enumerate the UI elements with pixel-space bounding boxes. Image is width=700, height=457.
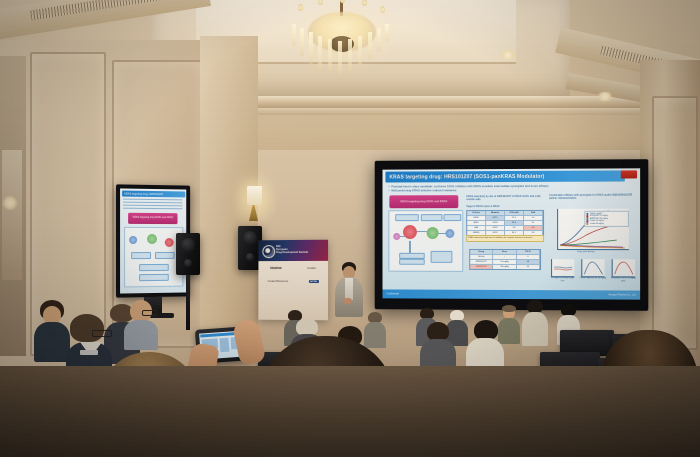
table-cell: A549 — [467, 221, 486, 225]
small-plot-2-curves — [582, 259, 604, 276]
table-cell: G12C — [486, 216, 505, 220]
slide-company-logo — [621, 170, 637, 178]
monitor-bullets — [123, 199, 182, 210]
tumor-growth-plot: Vehicle control HRS101207 10 mg/kg HRS10… — [557, 209, 629, 250]
pathway-diagram — [388, 210, 463, 272]
audience-member — [522, 300, 548, 344]
speaker-tweeter — [184, 259, 192, 267]
torso — [34, 322, 70, 362]
sponsor-row-2: Covalent Biosciences ACCEL — [258, 280, 328, 283]
mid-heading-1: KRAS selectivity by site of HRS101207 in… — [466, 195, 546, 202]
downlight-2 — [498, 50, 518, 60]
small-plot-3-caption: Sustained TGI for 30 mg/kg dose — [610, 277, 637, 282]
diagram-connector — [400, 236, 406, 237]
legend-item: Combo 30 mg/kg — [586, 223, 627, 225]
monitor-chip — [131, 252, 151, 259]
glasses-icon — [142, 310, 157, 316]
slide-bullet: Well performing KRAS selective reduced r… — [388, 188, 634, 193]
diagram-chip — [395, 214, 419, 221]
presenter-shirt — [345, 278, 353, 300]
table-cell: 12.4 — [505, 216, 524, 220]
far-room-glimpse — [2, 150, 22, 280]
monitor-node — [129, 236, 137, 244]
table-header-cell: Mutation — [486, 211, 505, 215]
small-plot-2-caption: Tumor reduction for 30 mg/kg — [579, 277, 606, 280]
diagram-chip — [399, 259, 425, 265]
hair — [502, 305, 516, 312]
small-plot-3-curves — [613, 259, 635, 276]
slide-footer-left: Confidential — [386, 292, 398, 295]
hair — [474, 320, 498, 340]
slide-footer: Confidential Hengrui Pharma Co., Ltd. — [383, 289, 641, 299]
plot-legend: Vehicle control HRS101207 10 mg/kg HRS10… — [584, 211, 629, 227]
table-cell: G12S — [486, 221, 505, 225]
table-cell: Vehicle — [470, 255, 493, 259]
table-cell: 3.1 — [524, 221, 543, 225]
lanyard-badge — [80, 350, 98, 355]
table-cell: H358 — [467, 216, 486, 220]
table-cell: 10 mg/kg — [493, 260, 516, 264]
table-cell: 30 mg/kg — [493, 265, 516, 269]
speaker-cone — [181, 238, 195, 252]
far-room-light — [2, 196, 18, 210]
speaker-tweeter — [246, 253, 254, 261]
small-plot-1 — [551, 259, 574, 277]
main-projection-screen[interactable]: KRAS targeting drug: HRS101207 (SOS1-pan… — [375, 159, 649, 311]
right-heading: Combination efficacy with synergistic fo… — [549, 194, 634, 201]
table-header-cell: Fold — [524, 211, 543, 215]
mid-table-1: Cell line Mutation IC50 (nM) Fold H358 G… — [466, 210, 544, 236]
event-sponsor-banner: BIO European Drug Development Summit bio… — [258, 240, 328, 321]
presenter-hand — [343, 298, 352, 304]
table-header-cell: TGI % — [517, 250, 540, 254]
diagram-chip — [431, 251, 453, 263]
legend-swatch — [586, 223, 588, 225]
mid-table-2: Group Dose TGI % Vehicle - 0 HRS101207 1… — [469, 249, 541, 270]
table-header-cell: Dose — [493, 250, 516, 254]
event-logo-icon — [262, 245, 275, 258]
diagram-chip — [443, 214, 461, 221]
sponsor-logo: ACCEL — [309, 280, 319, 283]
slide-bullets: Potential best-in-class candidate: combi… — [388, 183, 634, 192]
crystal-chandelier — [278, 0, 406, 90]
plot-xlabel: Days post dosing — [577, 251, 594, 253]
chandelier-glow — [284, 0, 402, 74]
sponsor-logo: Nuvation — [307, 266, 316, 269]
monitor-chip — [139, 274, 169, 281]
diagram-connector — [409, 241, 411, 253]
diagram-node-sos1 — [427, 227, 439, 239]
monitor-pathway-diagram — [124, 227, 183, 288]
sconce-shade — [247, 186, 262, 205]
table-cell: 0.8 — [524, 226, 543, 230]
monitor-chip — [139, 264, 169, 271]
conference-photo: KRAS targeting drug: HRS101207 (SOS1-pan… — [0, 0, 700, 457]
monitor-pink-callout: KRAS targeting drug SOS1 and KRAS — [128, 213, 177, 224]
phone-slide-content — [220, 338, 230, 353]
banner-header: BIO European Drug Development Summit — [258, 240, 328, 261]
banner-event-title: BIO European Drug Development Summit — [276, 245, 324, 255]
slide-footer-right: Hengrui Pharma Co., Ltd. — [609, 293, 637, 296]
monitor-chip — [155, 252, 175, 259]
torso — [124, 320, 158, 350]
pa-speaker-left-pole — [186, 275, 190, 330]
hair — [70, 314, 104, 342]
wall-panel-right — [652, 96, 698, 350]
table-cell: MIA — [467, 226, 486, 230]
monitor-node — [147, 234, 157, 244]
small-plot-3 — [612, 259, 635, 277]
table-cell: 9.8 — [505, 226, 524, 230]
torso — [522, 312, 548, 346]
table-header-cell: Cell line — [467, 211, 486, 215]
small-plot-1-curves — [552, 259, 574, 276]
sponsor-logo: Covalent Biosciences — [268, 280, 289, 283]
diagram-chip — [421, 214, 443, 221]
sponsor-logo: biodexa — [270, 266, 281, 270]
sponsor-row-1: biodexa Nuvation — [258, 266, 328, 270]
table-cell: HRS101207 — [470, 265, 493, 269]
table-row: HRS101207 30 mg/kg 94 — [470, 265, 540, 269]
legend-label: Combo 30 mg/kg — [590, 223, 604, 225]
audience-member — [34, 300, 70, 360]
small-plot-2 — [581, 259, 604, 277]
table-cell: 0 — [517, 255, 540, 259]
mid-note: KRAS selected at high level of inhibitio… — [466, 235, 544, 242]
table-cell: 1.0 — [524, 216, 543, 220]
diagram-node-effector — [445, 229, 454, 238]
table-cell: 68 — [517, 260, 540, 264]
presenter — [332, 262, 366, 324]
table-cell: 38.6 — [505, 221, 524, 225]
slide-title: KRAS targeting drug: HRS101207 (SOS1-pan… — [385, 170, 624, 182]
pa-speaker-left — [176, 233, 200, 275]
mid-table-1-caption: Target of KRAS codon in KRAS — [466, 205, 499, 208]
audience-member-back — [124, 300, 158, 348]
diagram-node-kras — [403, 225, 417, 239]
table-cell: G12D — [486, 226, 505, 230]
table-cell: - — [493, 255, 516, 259]
diagram-connector — [417, 231, 427, 232]
diagram-node-receptor — [393, 233, 400, 240]
slide-surface: KRAS targeting drug: HRS101207 (SOS1-pan… — [383, 168, 641, 299]
glasses-icon — [92, 330, 112, 337]
slide-pink-callout: KRAS targeting drug SOS1 and KRAS — [389, 195, 458, 208]
table-cell: HRS101207 — [470, 260, 493, 264]
table-cell: 94 — [517, 265, 540, 269]
small-plot-1-caption: No significant body weight loss — [549, 277, 576, 282]
monitor-slide-title: KRAS targeting drug: HRS101207 — [122, 191, 185, 198]
table-header-cell: IC50 (nM) — [505, 211, 524, 215]
table-header-cell: Group — [470, 250, 493, 254]
diagram-connector — [439, 233, 446, 234]
monitor-node — [165, 238, 174, 247]
floor — [0, 366, 700, 457]
downlight-3 — [596, 92, 614, 101]
speaker-cone — [243, 231, 257, 245]
